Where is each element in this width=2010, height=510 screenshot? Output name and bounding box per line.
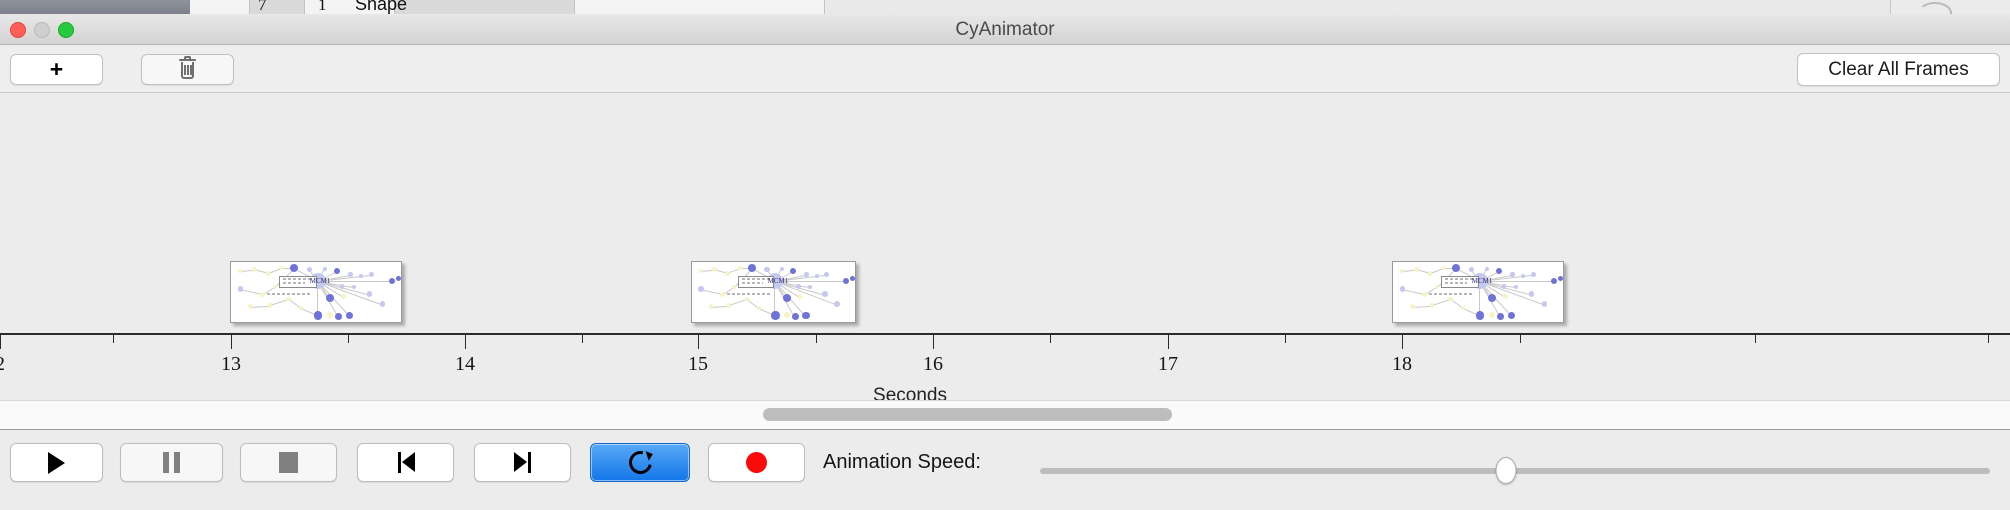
graph-node [260, 292, 265, 297]
trash-icon [179, 59, 196, 80]
graph-node [1461, 306, 1465, 310]
network-graph-preview: MCM1 [231, 262, 401, 322]
background-shape-label: Shape [355, 0, 407, 14]
graph-edge [1413, 305, 1432, 307]
graph-node [834, 301, 840, 307]
graph-node [341, 294, 346, 299]
timeline-scrollbar-thumb[interactable] [763, 408, 1172, 421]
graph-node [804, 272, 808, 276]
graph-node [824, 272, 829, 277]
graph-node [1496, 268, 1502, 274]
graph-node [326, 294, 334, 302]
background-app-strip: 7 1 Shape [0, 0, 2010, 14]
graph-node [334, 268, 340, 274]
graph-node [335, 313, 342, 320]
graph-node [727, 303, 731, 307]
graph-node [698, 286, 704, 292]
play-icon [48, 452, 65, 474]
skip-forward-icon [512, 452, 534, 473]
graph-node [1430, 303, 1434, 307]
add-frame-button[interactable]: + [10, 54, 103, 85]
frame-thumbnail-2[interactable]: MCM1 [691, 261, 856, 323]
graph-node [822, 291, 828, 297]
graph-annotation-text [727, 293, 770, 295]
graph-node [252, 267, 257, 272]
graph-node [784, 312, 790, 318]
ruler-tick-major [1402, 335, 1403, 349]
graph-node [850, 276, 855, 281]
graph-node [1503, 294, 1508, 299]
slider-thumb[interactable] [1495, 457, 1516, 484]
graph-node [1510, 272, 1514, 276]
graph-node [238, 286, 244, 292]
graph-node [1489, 312, 1495, 318]
ruler-tick-label: 14 [455, 353, 475, 376]
plus-icon: + [50, 58, 63, 81]
loop-button[interactable] [590, 443, 690, 482]
window-title: CyAnimator [0, 14, 2010, 45]
animation-speed-label: Animation Speed: [823, 451, 981, 474]
graph-node [1529, 291, 1535, 297]
graph-node [1414, 267, 1419, 272]
graph-callout-text [283, 278, 312, 280]
ruler-tick-major [231, 335, 232, 349]
ruler-tick-major [0, 335, 1, 349]
pause-icon [163, 452, 180, 473]
ruler-tick-minor [1755, 335, 1756, 343]
skip-back-icon [395, 452, 417, 473]
graph-node [396, 276, 401, 281]
ruler-tick-minor [1988, 335, 1989, 343]
graph-node [389, 278, 395, 284]
graph-callout-text [1445, 278, 1474, 280]
ruler-tick-minor [113, 335, 114, 343]
graph-node [1497, 313, 1504, 320]
graph-node [268, 303, 272, 307]
record-button[interactable] [708, 443, 805, 482]
ruler-tick-label: 16 [923, 353, 943, 376]
ruler-tick-minor [816, 335, 817, 343]
graph-node [1422, 292, 1427, 297]
graph-node [843, 278, 849, 284]
frame-thumbnail-3[interactable]: MCM1 [1392, 261, 1564, 323]
graph-hub-label: MCM1 [768, 277, 789, 285]
graph-node [792, 313, 799, 320]
graph-node [783, 294, 791, 302]
graph-node [796, 284, 801, 289]
graph-node [780, 267, 784, 271]
timeline-panel[interactable]: MCM1MCM1MCM1 2131415161718 Seconds [0, 93, 2010, 400]
record-icon [746, 452, 767, 473]
background-cell [395, 0, 575, 14]
graph-node [764, 267, 769, 272]
graph-node [273, 285, 277, 289]
graph-node [815, 274, 819, 278]
graph-node [709, 304, 714, 309]
graph-node [348, 272, 352, 276]
ruler-tick-minor [1285, 335, 1286, 343]
graph-node [367, 291, 373, 297]
background-cell [575, 0, 825, 14]
graph-node [369, 272, 374, 277]
stop-button[interactable] [240, 443, 337, 482]
ruler-tick-label: 15 [688, 353, 708, 376]
ruler-tick-minor [348, 335, 349, 343]
clear-all-frames-label: Clear All Frames [1828, 59, 1968, 81]
graph-node [1400, 269, 1404, 273]
graph-annotation-text [1429, 293, 1474, 295]
graph-node [346, 312, 354, 320]
graph-node [359, 274, 363, 278]
graph-node [1542, 301, 1548, 307]
titlebar: CyAnimator [0, 14, 2010, 45]
graph-node [798, 294, 803, 299]
graph-node [1400, 286, 1406, 292]
graph-node [1521, 274, 1525, 278]
graph-node [323, 267, 327, 271]
graph-node [712, 267, 717, 272]
ruler-tick-minor [1050, 335, 1051, 343]
background-dark-tab [0, 0, 190, 14]
graph-hub-label: MCM1 [1472, 277, 1493, 285]
graph-node [307, 267, 312, 272]
graph-callout-text [742, 278, 770, 280]
graph-node [732, 285, 736, 289]
graph-node [1469, 267, 1474, 272]
background-glyph: 1 [318, 0, 327, 14]
graph-node [699, 269, 703, 273]
ruler-tick-label: 2 [0, 353, 5, 376]
ruler-tick-label: 17 [1158, 353, 1178, 376]
graph-node [1452, 264, 1460, 272]
ruler-tick-major [933, 335, 934, 349]
ruler-tick-label: 18 [1392, 353, 1412, 376]
graph-node [266, 271, 271, 276]
graph-node [327, 312, 333, 318]
graph-node [720, 292, 725, 297]
ruler-tick-minor [582, 335, 583, 343]
animation-speed-slider[interactable] [1040, 460, 1990, 482]
clear-all-frames-button[interactable]: Clear All Frames [1797, 53, 2000, 86]
ruler-tick-major [465, 335, 466, 349]
graph-node [771, 311, 779, 319]
ruler-tick-label: 13 [221, 353, 241, 376]
graph-node [238, 269, 242, 273]
graph-callout-text [283, 282, 305, 284]
graph-node [290, 264, 298, 272]
graph-annotation-text [267, 293, 312, 295]
background-glyph: 7 [258, 0, 267, 14]
graph-node [248, 304, 253, 309]
stop-icon [279, 452, 298, 473]
delete-frame-button[interactable] [141, 54, 234, 85]
graph-node [1508, 312, 1516, 320]
ruler-tick-minor [1520, 335, 1521, 343]
background-cell [190, 0, 250, 14]
graph-node [802, 312, 810, 320]
timeline-scrollbar[interactable] [0, 400, 2010, 429]
playback-controls: Animation Speed: [0, 429, 2010, 509]
graph-node [1531, 272, 1536, 277]
loop-icon [629, 451, 652, 474]
graph-node [380, 301, 386, 307]
graph-node [280, 266, 284, 270]
network-graph-preview: MCM1 [692, 262, 855, 322]
graph-node [352, 285, 356, 289]
axis-title: Seconds [873, 385, 947, 400]
graph-node [1435, 285, 1439, 289]
skip-to-start-button[interactable] [357, 443, 454, 482]
graph-node [725, 271, 730, 276]
graph-callout-text [1445, 282, 1467, 284]
graph-callout-text [742, 282, 763, 284]
graph-node [314, 311, 322, 319]
frame-thumbnail-1[interactable]: MCM1 [230, 261, 402, 323]
play-button[interactable] [10, 443, 103, 482]
graph-node [757, 306, 761, 310]
cyanimator-window: CyAnimator + Clear All Frames [0, 14, 2010, 510]
graph-node [299, 306, 303, 310]
cyanimator-window-root: 7 1 Shape CyAnimator + [0, 0, 2010, 510]
graph-node [1485, 267, 1489, 271]
graph-node [790, 268, 796, 274]
graph-node [1514, 285, 1518, 289]
graph-node [1442, 266, 1446, 270]
timeline-ruler: 2131415161718 Seconds [0, 333, 2010, 400]
graph-hub-label: MCM1 [310, 277, 331, 285]
toolbar: + Clear All Frames [0, 45, 2010, 93]
skip-to-end-button[interactable] [474, 443, 571, 482]
graph-node [1410, 304, 1415, 309]
ruler-tick-major [698, 335, 699, 349]
pause-button[interactable] [120, 443, 223, 482]
graph-node [738, 266, 742, 270]
network-graph-preview: MCM1 [1393, 262, 1563, 322]
graph-node [1476, 311, 1484, 319]
graph-edge [251, 305, 270, 307]
graph-node [1551, 278, 1557, 284]
graph-node [808, 285, 812, 289]
ruler-tick-major [1168, 335, 1169, 349]
graph-node [1558, 276, 1563, 281]
graph-node [1428, 271, 1433, 276]
ruler-baseline [0, 333, 2010, 335]
graph-node [1488, 294, 1496, 302]
